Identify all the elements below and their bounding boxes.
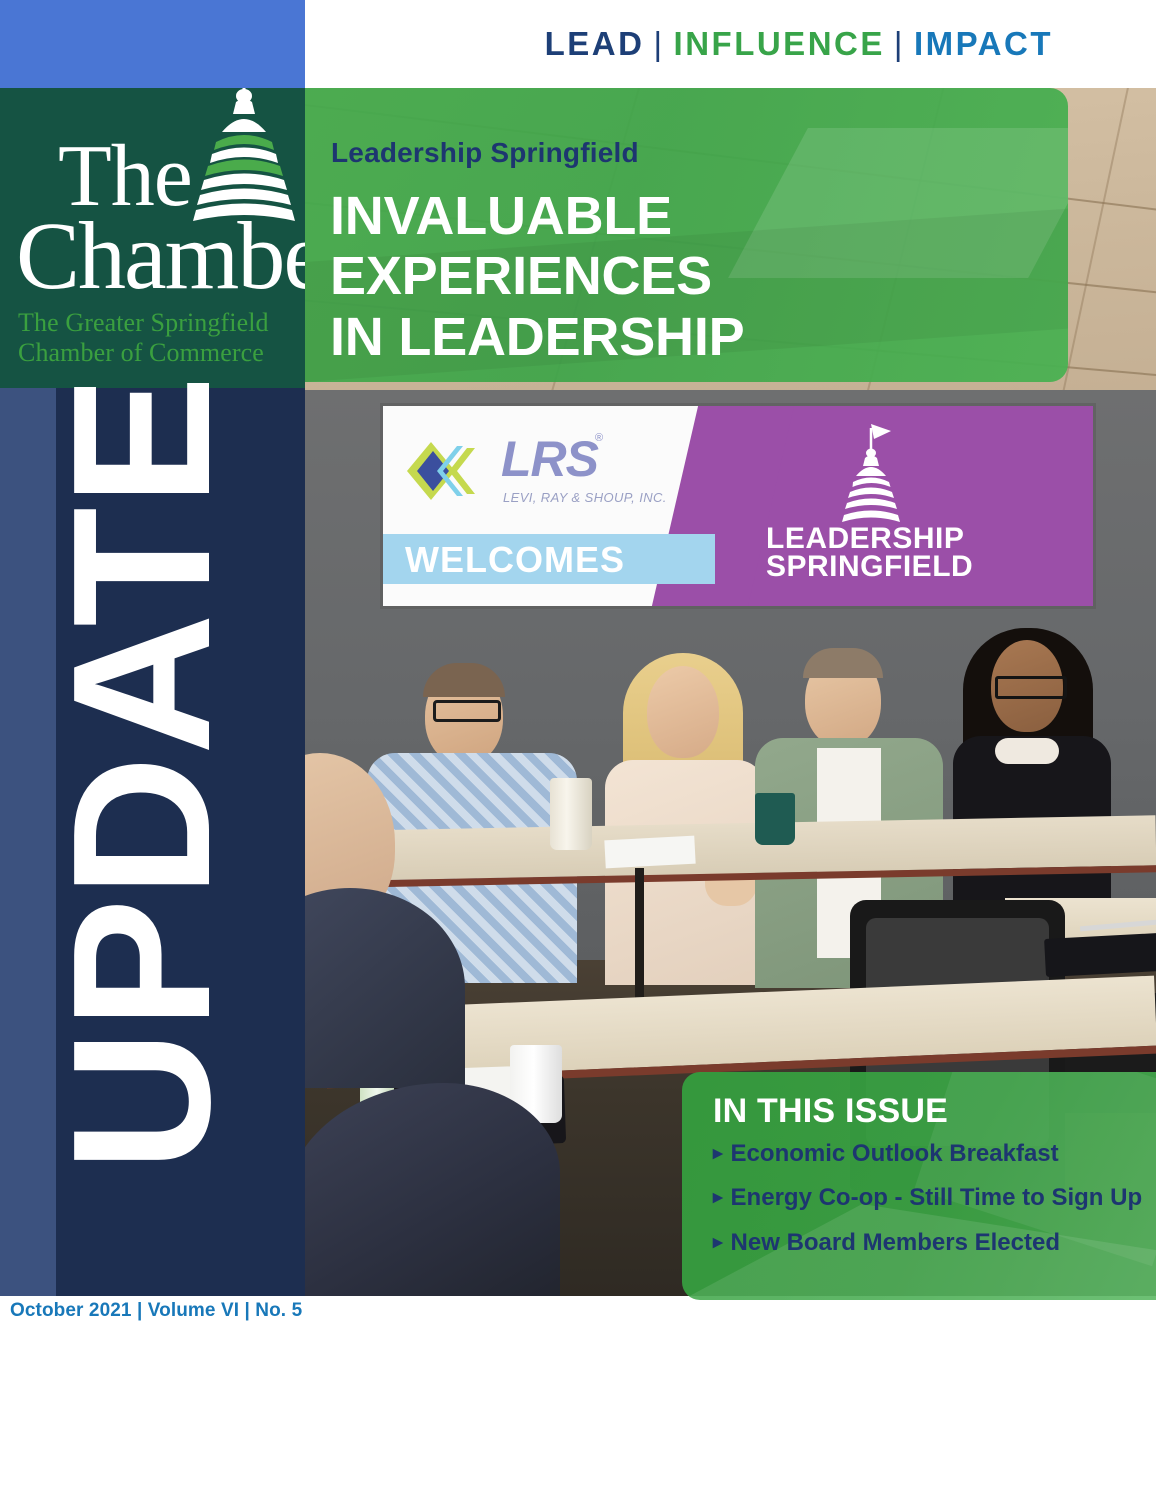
coffee-cup	[550, 778, 592, 850]
blue-corner-block	[0, 0, 305, 88]
leadership-springfield-dome-icon	[835, 422, 907, 532]
magazine-cover: LEAD|INFLUENCE|IMPACT The Chamber The Gr…	[0, 0, 1156, 1496]
update-wordmark: UPDATE	[37, 303, 247, 1243]
in-this-issue-list: ▸ Economic Outlook Breakfast ▸ Energy Co…	[713, 1140, 1143, 1273]
cover-story-headline: INVALUABLE EXPERIENCES IN LEADERSHIP	[330, 186, 1060, 367]
lrs-company-tagline: LEVI, RAY & SHOUP, INC.	[503, 490, 667, 505]
paper-sheet	[604, 836, 695, 869]
list-item[interactable]: ▸ New Board Members Elected	[713, 1229, 1143, 1257]
logo-chamber: Chamber	[16, 216, 305, 297]
list-item-label: New Board Members Elected	[731, 1229, 1060, 1257]
tagline-separator-2: |	[885, 25, 914, 62]
list-item[interactable]: ▸ Energy Co-op - Still Time to Sign Up	[713, 1184, 1143, 1212]
issue-footer: October 2021 | Volume VI | No. 5	[10, 1300, 302, 1322]
list-item-label: Economic Outlook Breakfast	[731, 1140, 1059, 1168]
lrs-welcome-banner: LRS ® LEVI, RAY & SHOUP, INC. WELCOMES L…	[383, 406, 1093, 606]
bullet-arrow-icon: ▸	[713, 1229, 723, 1257]
in-this-issue-box: IN THIS ISSUE ▸ Economic Outlook Breakfa…	[682, 1072, 1156, 1300]
lrs-logo-icon	[401, 432, 491, 510]
tagline-word-lead: LEAD	[545, 25, 645, 62]
lrs-wordmark: LRS	[501, 434, 598, 484]
tagline: LEAD|INFLUENCE|IMPACT	[545, 25, 1156, 63]
tagline-separator-1: |	[644, 25, 673, 62]
bullet-arrow-icon: ▸	[713, 1184, 723, 1212]
headline-line-1: INVALUABLE EXPERIENCES	[330, 186, 1060, 307]
leadership-springfield-line2: SPRINGFIELD	[766, 552, 973, 582]
lrs-registered-mark: ®	[595, 432, 603, 444]
in-this-issue-title: IN THIS ISSUE	[713, 1092, 948, 1131]
tagline-word-impact: IMPACT	[914, 25, 1053, 62]
lrs-welcomes-text: WELCOMES	[405, 539, 625, 581]
cover-story-kicker: Leadership Springfield	[331, 137, 639, 169]
green-mug	[755, 793, 795, 845]
foreground-person-shoulder	[305, 1083, 560, 1296]
tagline-word-influence: INFLUENCE	[674, 25, 885, 62]
list-item-label: Energy Co-op - Still Time to Sign Up	[731, 1184, 1143, 1212]
headline-line-2: IN LEADERSHIP	[330, 307, 1060, 367]
laptop	[1044, 933, 1156, 977]
bullet-arrow-icon: ▸	[713, 1140, 723, 1168]
cover-story-banner: Leadership Springfield INVALUABLE EXPERI…	[305, 88, 1068, 382]
list-item[interactable]: ▸ Economic Outlook Breakfast	[713, 1140, 1143, 1168]
